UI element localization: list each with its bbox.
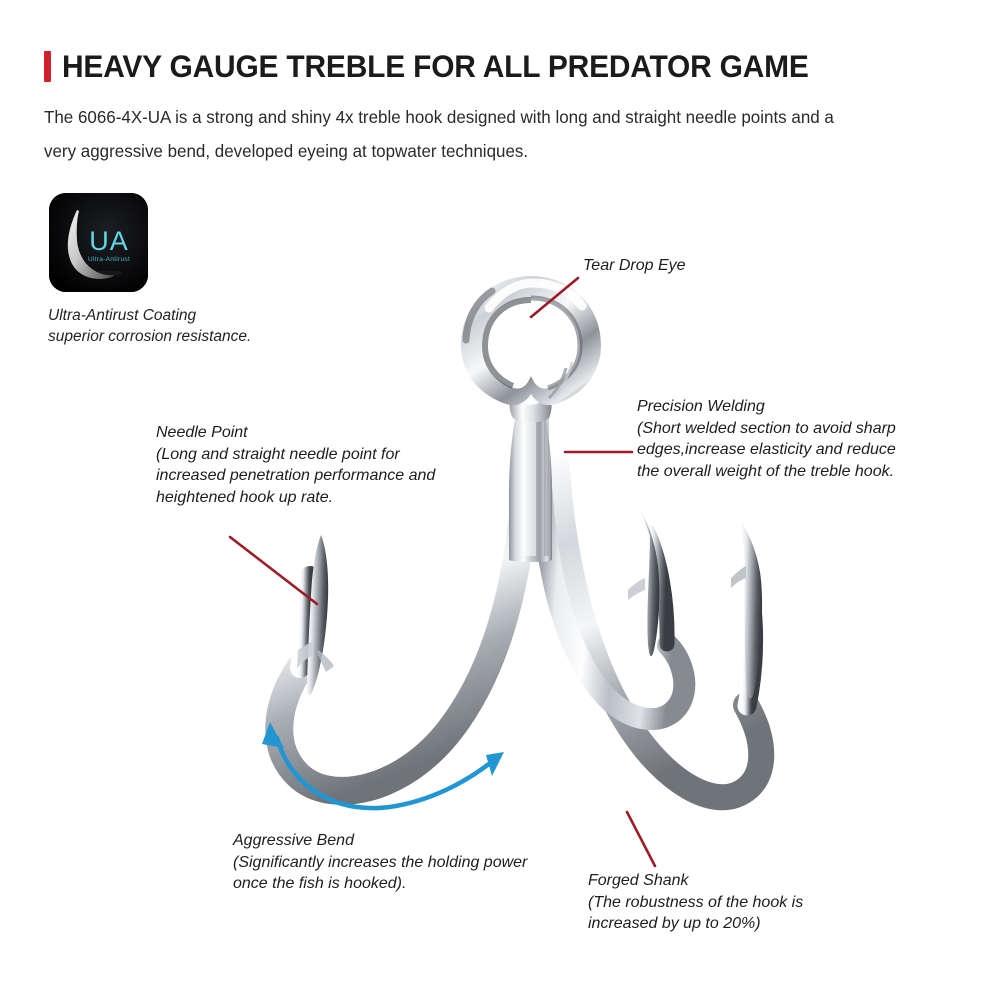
infographic-canvas: HEAVY GAUGE TREBLE FOR ALL PREDATOR GAME… — [0, 0, 1001, 1001]
callout-tear-drop-eye-title: Tear Drop Eye — [583, 255, 686, 277]
callout-precision-welding-title: Precision Welding — [637, 396, 922, 418]
callout-precision-welding: Precision Welding (Short welded section … — [637, 396, 922, 482]
callout-tear-drop-eye: Tear Drop Eye — [583, 255, 686, 277]
callout-aggressive-bend-title: Aggressive Bend — [233, 830, 543, 852]
callout-forged-shank: Forged Shank (The robustness of the hook… — [588, 870, 868, 935]
callout-aggressive-bend-body: (Significantly increases the holding pow… — [233, 852, 543, 895]
callout-aggressive-bend: Aggressive Bend (Significantly increases… — [233, 830, 543, 895]
callout-forged-shank-title: Forged Shank — [588, 870, 868, 892]
hook-shank-right — [556, 455, 761, 797]
callout-needle-point: Needle Point (Long and straight needle p… — [156, 422, 446, 508]
shank-highlight — [524, 410, 536, 556]
callout-needle-point-title: Needle Point — [156, 422, 446, 444]
callout-needle-point-body: (Long and straight needle point for incr… — [156, 444, 446, 509]
callout-precision-welding-body: (Short welded section to avoid sharp edg… — [637, 418, 922, 483]
barb-middle — [628, 578, 645, 600]
hook-body — [279, 276, 762, 797]
callout-forged-shank-body: (The robustness of the hook is increased… — [588, 892, 868, 935]
shank-shadow — [544, 412, 549, 556]
needle-point-left — [307, 535, 328, 695]
